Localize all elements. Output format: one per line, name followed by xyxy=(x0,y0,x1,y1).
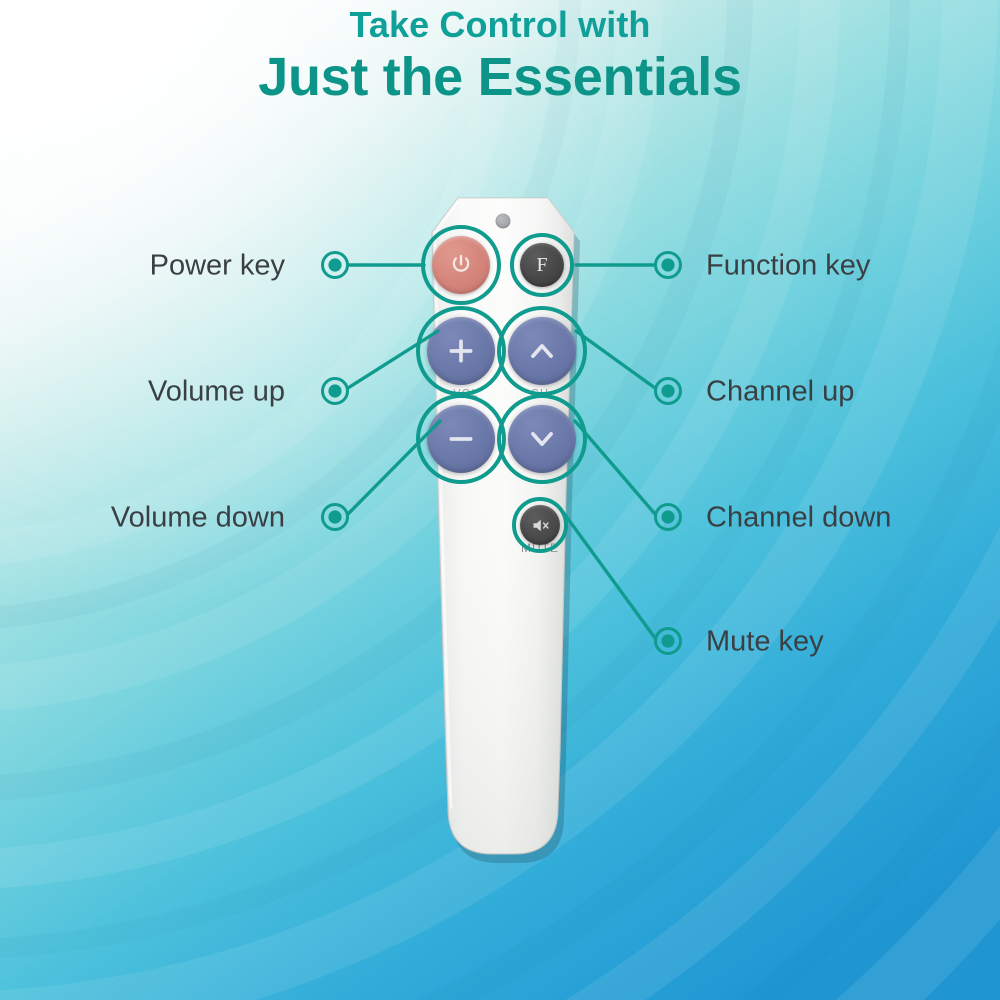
connector-dot-volume-down xyxy=(323,505,348,530)
callout-label-power-key: Power key xyxy=(150,252,285,281)
connector-dot-channel-down xyxy=(656,505,681,530)
connector-dot-mute xyxy=(656,629,681,654)
callout-label-channel-up: Channel up xyxy=(706,378,854,407)
connector-dot-function xyxy=(656,253,681,278)
callout-label-volume-up: Volume up xyxy=(148,378,285,407)
connector-dot-channel-up xyxy=(656,379,681,404)
connector-dot-volume-up xyxy=(323,379,348,404)
leader-mute xyxy=(563,512,655,638)
callout-label-channel-down: Channel down xyxy=(706,504,891,533)
leader-channel-down xyxy=(575,421,655,514)
leader-volume-down xyxy=(348,421,440,514)
connector-dot-power xyxy=(323,253,348,278)
callout-leader-lines xyxy=(0,0,1000,1000)
leader-volume-up xyxy=(348,331,438,388)
connector-dots xyxy=(323,253,681,654)
callout-label-volume-down: Volume down xyxy=(111,504,285,533)
callout-label-mute-key: Mute key xyxy=(706,628,824,657)
callout-label-function-key: Function key xyxy=(706,252,870,281)
leader-channel-up xyxy=(576,331,655,388)
infographic-canvas: Take Control with Just the Essentials xyxy=(0,0,1000,1000)
